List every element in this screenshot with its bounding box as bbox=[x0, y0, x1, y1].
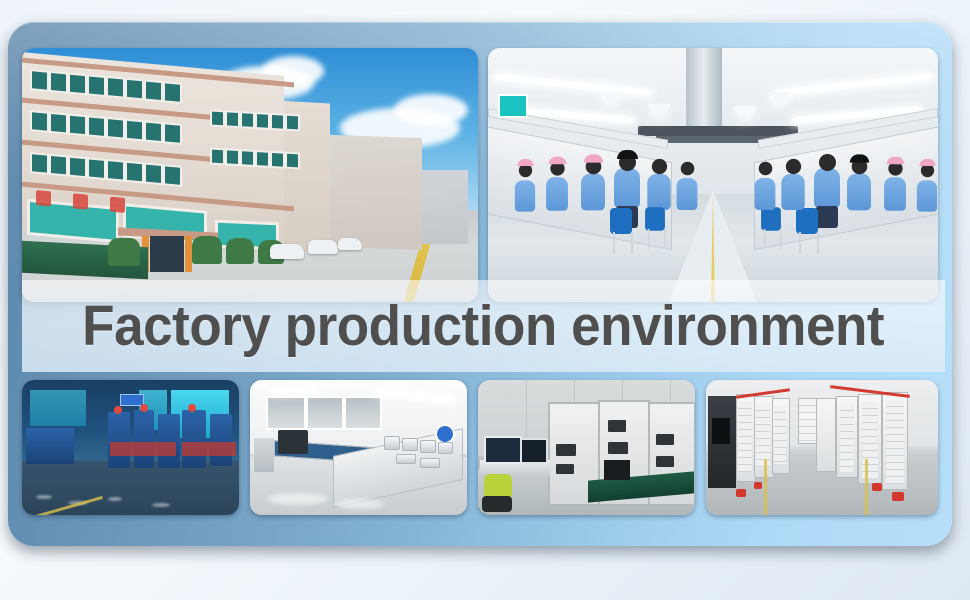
photo-inspection-lab bbox=[250, 380, 467, 515]
page-title: Factory production environment bbox=[83, 298, 885, 355]
photo-molding-workshop bbox=[22, 380, 239, 515]
scene-factory-building bbox=[22, 48, 478, 302]
caption-band: Factory production environment bbox=[22, 280, 945, 372]
photo-assembly-line bbox=[488, 48, 938, 302]
photo-aging-room bbox=[706, 380, 938, 515]
scene-assembly-line bbox=[488, 48, 938, 302]
photo-test-equipment bbox=[478, 380, 695, 515]
scene-aging-room bbox=[706, 380, 938, 515]
photo-factory-building-exterior bbox=[22, 48, 478, 302]
scene-inspection-lab bbox=[250, 380, 467, 515]
factory-banner: Factory production environment bbox=[8, 22, 952, 546]
scene-test-equipment bbox=[478, 380, 695, 515]
scene-molding-workshop bbox=[22, 380, 239, 515]
